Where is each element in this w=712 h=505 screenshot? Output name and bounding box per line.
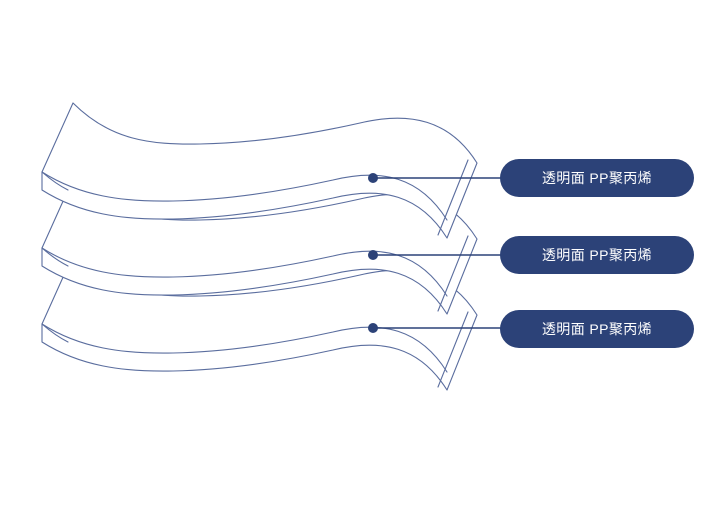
leader-dot-3 — [368, 323, 378, 333]
layer-label-text-middle: 透明面 PP聚丙烯 — [542, 248, 652, 262]
layer-label-text-bottom: 透明面 PP聚丙烯 — [542, 322, 652, 336]
leader-dot-1 — [368, 173, 378, 183]
leader-dot-2 — [368, 250, 378, 260]
layer-label-pill-bottom[interactable]: 透明面 PP聚丙烯 — [500, 310, 694, 348]
layer-label-text-top: 透明面 PP聚丙烯 — [542, 171, 652, 185]
layer-label-pill-middle[interactable]: 透明面 PP聚丙烯 — [500, 236, 694, 274]
layer-label-pill-top[interactable]: 透明面 PP聚丙烯 — [500, 159, 694, 197]
diagram-canvas: 透明面 PP聚丙烯 透明面 PP聚丙烯 透明面 PP聚丙烯 — [0, 0, 712, 505]
